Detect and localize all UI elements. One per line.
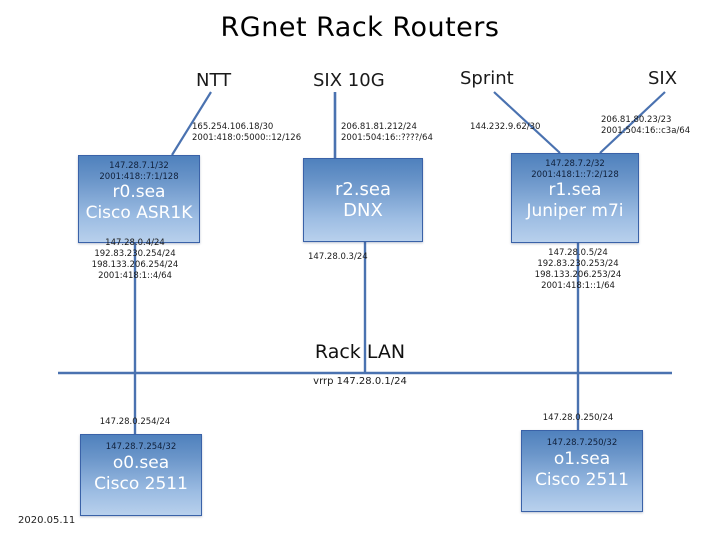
ntt-v4-address: 165.254.106.18/30 [192, 122, 301, 133]
page-title: RGnet Rack Routers [0, 12, 720, 43]
r1-loopback-v4: 147.28.7.2/32 [545, 159, 605, 170]
r0-hostname: r0.sea [113, 182, 166, 203]
six10g-v4-address: 206.81.81.212/24 [341, 122, 433, 133]
r1-lan-line2: 192.83.230.253/24 [518, 259, 638, 270]
r0-loopback-v4: 147.28.7.1/32 [109, 161, 169, 172]
o0-loopback-v4: 147.28.7.254/32 [106, 442, 176, 453]
console-node-o1[interactable]: 147.28.7.250/32 o1.sea Cisco 2511 [521, 430, 643, 512]
r1-lan-line3: 198.133.206.253/24 [518, 270, 638, 281]
o0-model: Cisco 2511 [94, 474, 188, 495]
uplink-addresses-sprint: 144.232.9.62/30 [470, 122, 540, 133]
o0-lan-address: 147.28.0.254/24 [75, 417, 195, 428]
six-v4-address: 206.81.80.23/23 [601, 115, 690, 126]
o1-loopback-v4: 147.28.7.250/32 [547, 438, 617, 449]
r0-lan-addresses: 147.28.0.4/24 192.83.230.254/24 198.133.… [75, 238, 195, 282]
six-v6-address: 2001:504:16::c3a/64 [601, 126, 690, 137]
o1-model: Cisco 2511 [535, 470, 629, 491]
r0-lan-line4: 2001:418:1::4/64 [75, 271, 195, 282]
r0-lan-line1: 147.28.0.4/24 [75, 238, 195, 249]
r1-lan-addresses: 147.28.0.5/24 192.83.230.253/24 198.133.… [518, 248, 638, 292]
rack-lan-vrrp: vrrp 147.28.0.1/24 [0, 376, 720, 387]
r0-model: Cisco ASR1K [86, 203, 193, 224]
rack-lan-title: Rack LAN [0, 341, 720, 363]
uplink-label-six10g: SIX 10G [313, 70, 385, 91]
router-node-r1[interactable]: 147.28.7.2/32 2001:418:1::7:2/128 r1.sea… [511, 153, 639, 243]
r1-lan-line1: 147.28.0.5/24 [518, 248, 638, 259]
r0-lan-line2: 192.83.230.254/24 [75, 249, 195, 260]
r2-lan-addresses: 147.28.0.3/24 [308, 252, 368, 263]
o0-hostname: o0.sea [113, 453, 169, 474]
uplink-addresses-six: 206.81.80.23/23 2001:504:16::c3a/64 [601, 115, 690, 137]
r2-lan-line1: 147.28.0.3/24 [308, 252, 368, 263]
o1-lan-address: 147.28.0.250/24 [518, 413, 638, 424]
o1-lan-line1: 147.28.0.250/24 [518, 413, 638, 424]
uplink-addresses-six10g: 206.81.81.212/24 2001:504:16::????/64 [341, 122, 433, 144]
ntt-v6-address: 2001:418:0:5000::12/126 [192, 133, 301, 144]
r0-loopback-v6: 2001:418::7:1/128 [99, 172, 178, 183]
diagram-canvas: RGnet Rack Routers NTT SIX 10G Sprint SI… [0, 0, 720, 540]
router-node-r0[interactable]: 147.28.7.1/32 2001:418::7:1/128 r0.sea C… [78, 155, 200, 243]
footer-date: 2020.05.11 [18, 515, 75, 526]
o1-hostname: o1.sea [554, 449, 610, 470]
uplink-label-ntt: NTT [196, 70, 231, 91]
six10g-v6-address: 2001:504:16::????/64 [341, 133, 433, 144]
router-node-r2[interactable]: r2.sea DNX [303, 158, 423, 242]
uplink-addresses-ntt: 165.254.106.18/30 2001:418:0:5000::12/12… [192, 122, 301, 144]
r1-loopback-v6: 2001:418:1::7:2/128 [531, 170, 619, 181]
sprint-v4-address: 144.232.9.62/30 [470, 122, 540, 133]
r1-hostname: r1.sea [549, 180, 602, 201]
r0-lan-line3: 198.133.206.254/24 [75, 260, 195, 271]
r1-model: Juniper m7i [526, 201, 623, 222]
uplink-label-six: SIX [648, 68, 677, 89]
r2-hostname: r2.sea [335, 179, 391, 200]
uplink-label-sprint: Sprint [460, 68, 514, 89]
r1-lan-line4: 2001:418:1::1/64 [518, 281, 638, 292]
console-node-o0[interactable]: 147.28.7.254/32 o0.sea Cisco 2511 [80, 434, 202, 516]
o0-lan-line1: 147.28.0.254/24 [75, 417, 195, 428]
r2-model: DNX [343, 200, 383, 221]
